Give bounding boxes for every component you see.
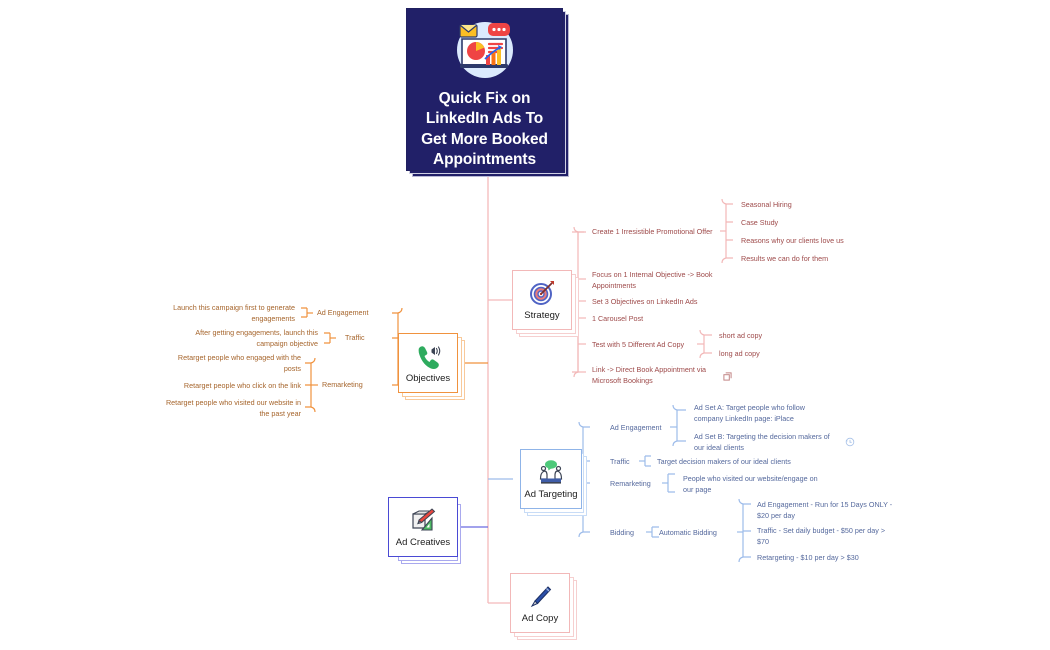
root-node[interactable]: Quick Fix on LinkedIn Ads To Get More Bo… [406,8,563,171]
ad-creatives-node-label: Ad Creatives [396,537,450,548]
presentation-chart-icon [452,17,518,83]
target-dart-icon [528,279,556,307]
leaf-targeting-traffic-detail[interactable]: Target decision makers of our ideal clie… [657,457,791,468]
leaf-targeting-ad-engagement[interactable]: Ad Engagement [610,423,662,434]
leaf-strategy-seasonal-hiring[interactable]: Seasonal Hiring [741,200,792,211]
image-edit-icon [409,506,437,534]
phone-call-icon [414,342,442,370]
branch-node-ad-copy[interactable]: Ad Copy [510,573,570,633]
leaf-targeting-automatic-bidding[interactable]: Automatic Bidding [659,528,717,539]
leaf-strategy-set-3-objectives[interactable]: Set 3 Objectives on LinkedIn Ads [592,297,697,308]
leaf-strategy-reasons-clients-love[interactable]: Reasons why our clients love us [741,236,844,247]
ad-copy-node-label: Ad Copy [522,613,558,624]
leaf-objectives-launch-campaign-first[interactable]: Launch this campaign first to generate e… [145,303,295,325]
mindmap-canvas: Quick Fix on LinkedIn Ads To Get More Bo… [0,0,1050,650]
leaf-strategy-case-study[interactable]: Case Study [741,218,778,229]
leaf-targeting-bidding[interactable]: Bidding [610,528,634,539]
people-meeting-icon [537,458,565,486]
branch-node-ad-targeting[interactable]: Ad Targeting [520,449,582,509]
leaf-targeting-remarketing[interactable]: Remarketing [610,479,651,490]
leaf-strategy-short-ad-copy[interactable]: short ad copy [719,331,762,342]
ad-targeting-node-label: Ad Targeting [524,489,577,500]
leaf-targeting-remarketing-detail[interactable]: People who visited our website/engage on… [683,474,831,496]
leaf-objectives-retarget-engaged-posts[interactable]: Retarget people who engaged with the pos… [155,353,301,375]
external-link-icon[interactable] [723,368,732,386]
info-clock-icon[interactable] [845,434,855,452]
leaf-targeting-ad-set-b[interactable]: Ad Set B: Targeting the decision makers … [694,432,840,454]
leaf-objectives-traffic[interactable]: Traffic [345,333,365,344]
leaf-strategy-results-for-them[interactable]: Results we can do for them [741,254,828,265]
leaf-objectives-after-engagements[interactable]: After getting engagements, launch this c… [168,328,318,350]
leaf-strategy-carousel-post[interactable]: 1 Carousel Post [592,314,643,325]
leaf-targeting-ad-set-a[interactable]: Ad Set A: Target people who follow compa… [694,403,826,425]
leaf-objectives-retarget-click-link[interactable]: Retarget people who click on the link [155,381,301,392]
leaf-objectives-retarget-site-past-year[interactable]: Retarget people who visited our website … [129,398,301,420]
leaf-objectives-remarketing[interactable]: Remarketing [322,380,363,391]
leaf-strategy-test-5-ad-copy[interactable]: Test with 5 Different Ad Copy [592,340,684,351]
leaf-targeting-bid-traffic[interactable]: Traffic - Set daily budget - $50 per day… [757,526,901,548]
leaf-strategy-promo-offer[interactable]: Create 1 Irresistible Promotional Offer [592,227,713,238]
leaf-targeting-bid-retargeting[interactable]: Retargeting - $10 per day > $30 [757,553,901,564]
strategy-node-label: Strategy [524,310,559,321]
leaf-objectives-ad-engagement[interactable]: Ad Engagement [317,308,369,319]
leaf-targeting-traffic[interactable]: Traffic [610,457,630,468]
leaf-strategy-long-ad-copy[interactable]: long ad copy [719,349,760,360]
fountain-pen-icon [526,582,554,610]
leaf-strategy-focus-internal-objective[interactable]: Focus on 1 Internal Objective -> Book Ap… [592,270,712,292]
branch-node-ad-creatives[interactable]: Ad Creatives [388,497,458,557]
branch-node-strategy[interactable]: Strategy [512,270,572,330]
leaf-strategy-link-bookings[interactable]: Link -> Direct Book Appointment via Micr… [592,365,706,387]
leaf-targeting-bid-ad-engagement[interactable]: Ad Engagement - Run for 15 Days ONLY - $… [757,500,901,522]
root-title: Quick Fix on LinkedIn Ads To Get More Bo… [407,89,562,171]
branch-node-objectives[interactable]: Objectives [398,333,458,393]
objectives-node-label: Objectives [406,373,450,384]
